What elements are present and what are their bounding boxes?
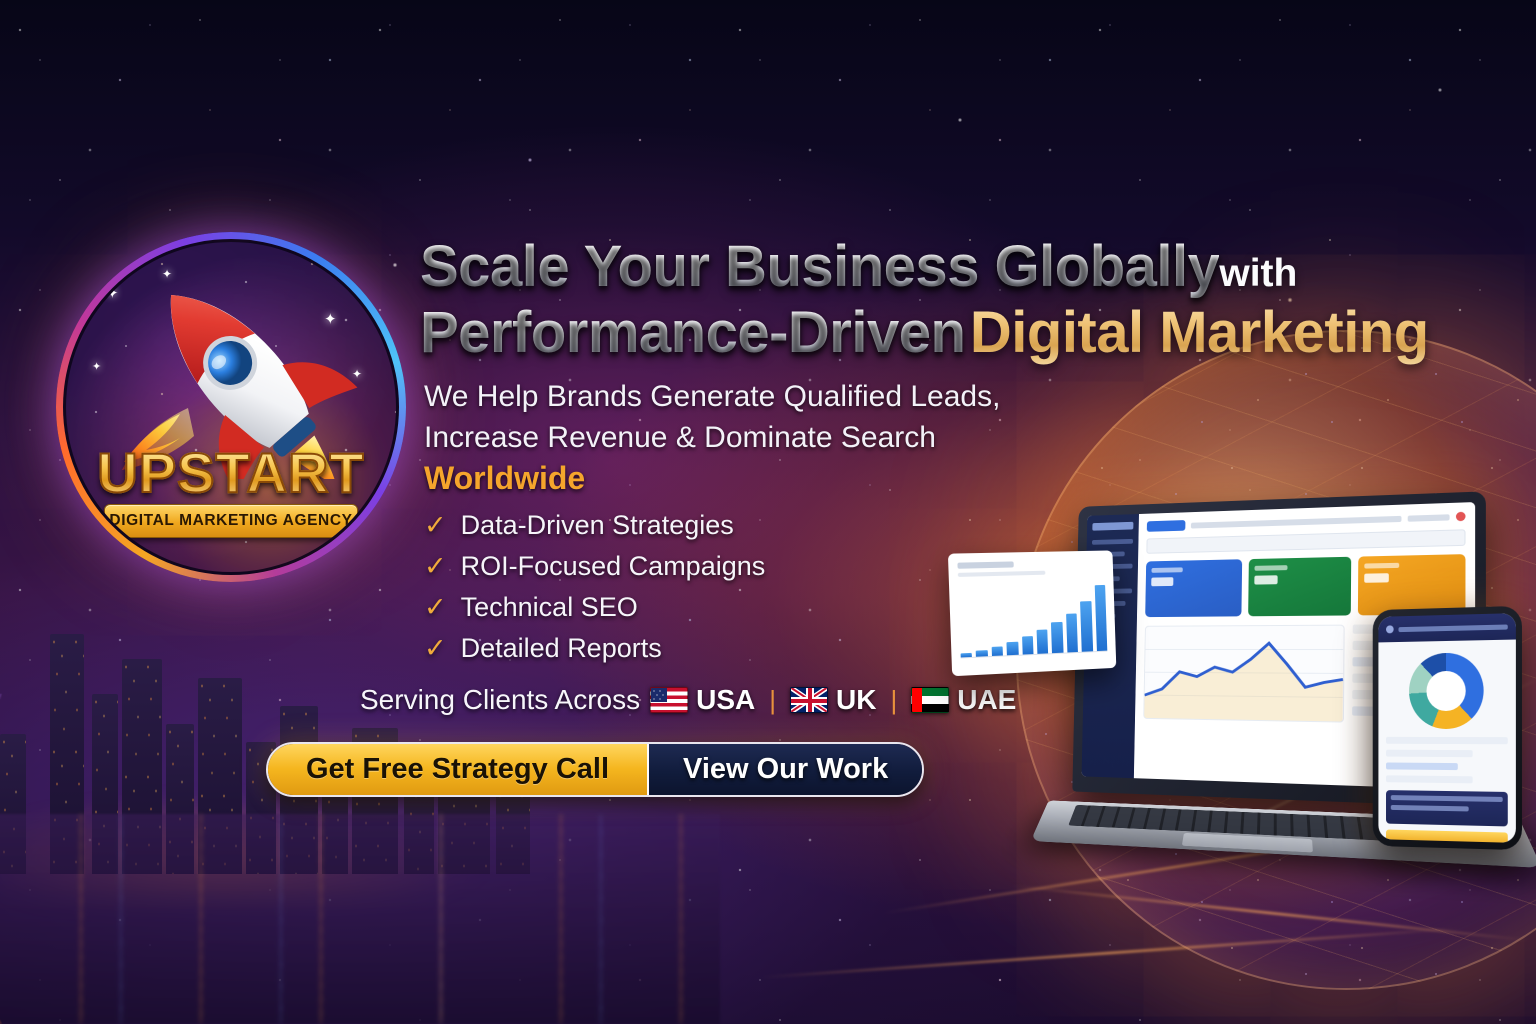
feature-label: Data-Driven Strategies xyxy=(461,510,734,541)
channel-split-donut-chart xyxy=(1409,652,1484,729)
cta-button-group: Get Free Strategy Call View Our Work xyxy=(266,742,924,797)
floating-bar-chart-card xyxy=(948,550,1116,676)
logo-wordmark: UPSTART xyxy=(66,440,396,505)
bar xyxy=(1094,584,1107,651)
phone-cta-button[interactable] xyxy=(1386,829,1508,842)
check-icon: ✓ xyxy=(424,512,447,539)
get-free-strategy-call-button[interactable]: Get Free Strategy Call xyxy=(268,744,649,795)
dashboard-metric-cards xyxy=(1145,554,1465,617)
feature-label: Technical SEO xyxy=(461,592,638,623)
feature-item: ✓ Detailed Reports xyxy=(424,628,765,669)
serving-prefix: Serving Clients Across xyxy=(360,684,640,716)
subheading-block: We Help Brands Generate Qualified Leads,… xyxy=(424,376,1064,497)
phone-highlight-panel xyxy=(1386,790,1508,826)
metric-card-blue xyxy=(1145,559,1242,617)
headline-line-1: Scale Your Business Globallywith xyxy=(420,238,1340,296)
headline-performance-text: Performance-Driven xyxy=(420,300,965,365)
bar xyxy=(1066,613,1078,652)
flag-uae-icon xyxy=(911,687,949,713)
subheading-line-1: We Help Brands Generate Qualified Leads, xyxy=(424,376,1064,417)
headline-with-text: with xyxy=(1219,252,1297,295)
bar xyxy=(1051,622,1063,653)
flag-uk-icon xyxy=(790,687,828,713)
sparkle-icon: ✦ xyxy=(106,286,119,301)
phone-metric-rows xyxy=(1386,737,1508,784)
phone-app-header xyxy=(1378,613,1515,642)
country-usa: USA xyxy=(650,684,755,716)
headline-block: Scale Your Business Globallywith Perform… xyxy=(420,238,1340,362)
metric-card-gold xyxy=(1358,554,1466,615)
hero-banner: ✦ ✦ ✦ ✦ ✦ xyxy=(0,0,1536,1024)
country-label: USA xyxy=(696,684,755,716)
country-uk: UK xyxy=(790,684,876,716)
headline-main-text: Scale Your Business Globally xyxy=(420,234,1219,299)
headline-line-2: Performance-Driven Digital Marketing xyxy=(420,304,1340,362)
logo-tagline-text: DIGITAL MARKETING AGENCY xyxy=(109,512,352,530)
feature-label: ROI-Focused Campaigns xyxy=(461,551,766,582)
feature-label: Detailed Reports xyxy=(461,633,662,664)
country-label: UK xyxy=(836,684,876,716)
phone-screen-analytics xyxy=(1378,613,1515,843)
subheading-line-2: Increase Revenue & Dominate Search xyxy=(424,417,1064,458)
view-our-work-button[interactable]: View Our Work xyxy=(649,744,922,795)
bar xyxy=(991,646,1003,656)
feature-item: ✓ Technical SEO xyxy=(424,587,765,628)
bar xyxy=(1007,642,1019,655)
bar xyxy=(1022,636,1034,655)
serving-clients-row: Serving Clients Across USA | UK | UAE xyxy=(360,684,1016,716)
flag-usa-icon xyxy=(650,687,688,713)
phone-app-body xyxy=(1378,640,1515,843)
bar xyxy=(976,650,988,657)
bar-chart-bars xyxy=(958,581,1107,658)
sparkle-icon: ✦ xyxy=(92,362,101,373)
water-reflection xyxy=(0,814,720,1024)
dashboard-toolbar xyxy=(1147,511,1466,532)
feature-item: ✓ Data-Driven Strategies xyxy=(424,505,765,546)
device-mockups xyxy=(950,490,1536,910)
phone-menu-icon[interactable] xyxy=(1386,625,1394,633)
metric-card-green xyxy=(1248,557,1350,617)
separator: | xyxy=(769,685,776,716)
bar xyxy=(961,653,973,658)
check-icon: ✓ xyxy=(424,635,447,662)
dashboard-search-field[interactable] xyxy=(1146,529,1465,554)
feature-list: ✓ Data-Driven Strategies ✓ ROI-Focused C… xyxy=(424,505,765,669)
feature-item: ✓ ROI-Focused Campaigns xyxy=(424,546,765,587)
traffic-trend-chart xyxy=(1143,625,1344,723)
bar xyxy=(1037,629,1049,654)
check-icon: ✓ xyxy=(424,553,447,580)
logo-tagline-ribbon: DIGITAL MARKETING AGENCY xyxy=(104,504,358,538)
phone-mockup xyxy=(1373,606,1522,850)
headline-accent-text: Digital Marketing xyxy=(970,300,1429,365)
bar xyxy=(1080,601,1093,652)
logo-inner-disc: ✦ ✦ ✦ ✦ ✦ xyxy=(63,239,399,575)
brand-logo[interactable]: ✦ ✦ ✦ ✦ ✦ xyxy=(56,232,406,582)
check-icon: ✓ xyxy=(424,594,447,621)
separator: | xyxy=(890,685,897,716)
